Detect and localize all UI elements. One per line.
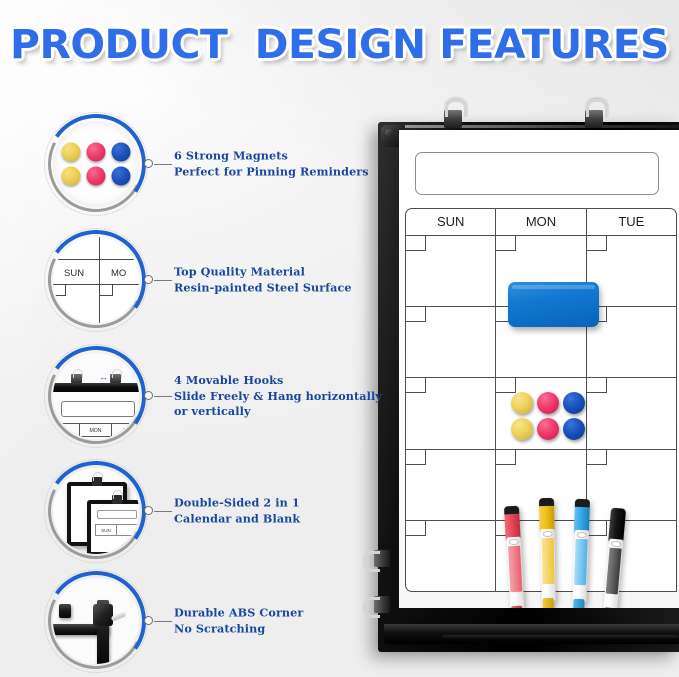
feature-label-abs-corner: Durable ABS Corner No Scratching xyxy=(174,606,303,637)
feature-icon-hooks: ↔ MON TUE xyxy=(44,344,148,448)
magnet-pink xyxy=(87,167,106,186)
marker-cap xyxy=(574,499,590,534)
calendar-cell xyxy=(587,236,676,306)
magnet-blue xyxy=(112,143,131,162)
connector-dot xyxy=(144,506,153,515)
magnets-closeup-photo xyxy=(53,121,139,207)
abs-corner-closeup-photo xyxy=(53,578,139,664)
marker-tip xyxy=(573,599,585,608)
marker-logo xyxy=(576,532,586,538)
calendar-header-row: SUN MON TUE xyxy=(405,208,677,236)
calendar-surface-zoom: SUN MO xyxy=(53,237,139,323)
zoom-day-cell xyxy=(117,525,138,535)
steel-surface-closeup-photo: SUN MO xyxy=(53,237,139,323)
connector-dot xyxy=(144,616,153,625)
feature-label-material: Top Quality Material Resin-painted Steel… xyxy=(174,265,352,296)
magnet-yellow xyxy=(62,143,81,162)
hook-left xyxy=(71,374,82,383)
calendar-cell xyxy=(406,450,496,520)
calendar-cell xyxy=(406,236,496,306)
calendar-cell xyxy=(587,378,676,448)
magnet-pink xyxy=(537,392,559,414)
page-title: PRODUCT DESIGN FEATURES xyxy=(0,22,679,68)
zoom-day-sun: SUN xyxy=(96,525,117,535)
marker-band xyxy=(574,539,588,585)
marker-blue xyxy=(571,499,590,608)
marker-logo xyxy=(508,539,518,546)
board-bottom-tray xyxy=(384,624,679,644)
feature-icon-double-sided: SUN xyxy=(44,459,148,563)
magnet-yellow xyxy=(511,392,533,414)
board-surface: SUN MON TUE xyxy=(399,130,679,608)
board-magnet-group xyxy=(511,392,585,440)
marker-cap xyxy=(504,506,521,541)
marker-set xyxy=(507,498,647,608)
magnet-blue xyxy=(563,392,585,414)
calendar-cell xyxy=(587,307,676,377)
marker-tip xyxy=(543,598,554,608)
rail-highlight xyxy=(386,125,679,128)
marker-cap xyxy=(539,498,555,532)
abs-corner-piece xyxy=(93,604,113,626)
magnet-pink xyxy=(537,418,559,440)
slide-arrow-icon: ↔ xyxy=(99,375,108,380)
feature-label-double-sided: Double-Sided 2 in 1 Calendar and Blank xyxy=(174,496,300,527)
feature-callout-double-sided: SUN Double-Sided 2 in 1 Calendar and Bla… xyxy=(44,459,384,563)
stacked-boards-zoom: SUN xyxy=(53,468,139,554)
title-box xyxy=(61,401,135,417)
magnet-yellow xyxy=(62,167,81,186)
feature-icon-magnets xyxy=(44,112,148,216)
magnet-blue xyxy=(112,167,131,186)
hooks-zoom: ↔ MON TUE xyxy=(53,353,139,439)
abs-corner-zoom xyxy=(53,578,139,664)
marker-black xyxy=(601,508,626,608)
zoom-day-cell xyxy=(53,424,80,436)
day-header-mon: MON xyxy=(496,209,586,235)
marker-band xyxy=(508,546,522,593)
top-rail xyxy=(53,383,139,392)
zoom-day-mon: MO xyxy=(111,268,126,279)
magnet-grid xyxy=(62,143,131,186)
marker-cap xyxy=(608,508,626,543)
connector-dot xyxy=(144,275,153,284)
feature-callout-abs-corner: Durable ABS Corner No Scratching xyxy=(44,569,384,673)
connector-line xyxy=(154,164,172,166)
hooks-closeup-photo: ↔ MON TUE xyxy=(53,353,139,439)
magnetic-eraser xyxy=(508,282,599,327)
marker-red xyxy=(504,506,525,608)
connector-line xyxy=(154,280,172,282)
frame-clip xyxy=(59,604,71,618)
marker-logo xyxy=(542,531,552,537)
hook-icon xyxy=(112,495,122,504)
marker-band xyxy=(541,538,554,584)
connector-line xyxy=(154,396,172,398)
zoom-day-tue: TUE xyxy=(112,424,139,436)
double-sided-closeup-photo: SUN xyxy=(53,468,139,554)
feature-icon-abs-corner xyxy=(44,569,148,673)
calendar-cell xyxy=(406,378,496,448)
product-feature-infographic: PRODUCT DESIGN FEATURES 6 Strong Magnets… xyxy=(0,0,679,677)
magnet-blue xyxy=(563,418,585,440)
connector-dot xyxy=(144,159,153,168)
connector-line xyxy=(154,511,172,513)
feature-icon-material: SUN MO xyxy=(44,228,148,332)
calendar-row: SUN xyxy=(95,524,139,536)
magnet-yellow xyxy=(511,418,533,440)
title-box xyxy=(97,510,137,519)
calendar-header-row: MON TUE xyxy=(53,423,139,437)
zoom-day-mon: MON xyxy=(80,424,113,436)
zoom-day-sun: SUN xyxy=(64,268,84,279)
calendar-cell xyxy=(406,521,496,592)
top-hook-left xyxy=(444,110,462,128)
connector-line xyxy=(154,621,172,623)
feature-label-hooks: 4 Movable Hooks Slide Freely & Hang hori… xyxy=(174,373,382,420)
day-header-sun: SUN xyxy=(406,209,496,235)
product-whiteboard: SUN MON TUE xyxy=(378,108,679,677)
feature-callout-hooks: ↔ MON TUE 4 Movable Hooks Slide Freely &… xyxy=(44,344,384,448)
hook-icon xyxy=(92,477,102,486)
day-header-tue: TUE xyxy=(587,209,676,235)
magnet-pink xyxy=(87,143,106,162)
connector-dot xyxy=(144,391,153,400)
top-hook-right xyxy=(585,110,603,128)
hook-right xyxy=(110,374,121,383)
board-front: SUN xyxy=(87,500,139,554)
feature-label-magnets: 6 Strong Magnets Perfect for Pinning Rem… xyxy=(174,149,369,180)
marker-tip xyxy=(511,606,523,608)
feature-callout-material: SUN MO Top Quality Material Resin-painte… xyxy=(44,228,384,332)
calendar-cell xyxy=(406,307,496,377)
marker-tip xyxy=(603,607,616,608)
board-title-box xyxy=(415,152,659,195)
feature-callout-magnets: 6 Strong Magnets Perfect for Pinning Rem… xyxy=(44,112,384,216)
marker-yellow xyxy=(539,498,556,608)
